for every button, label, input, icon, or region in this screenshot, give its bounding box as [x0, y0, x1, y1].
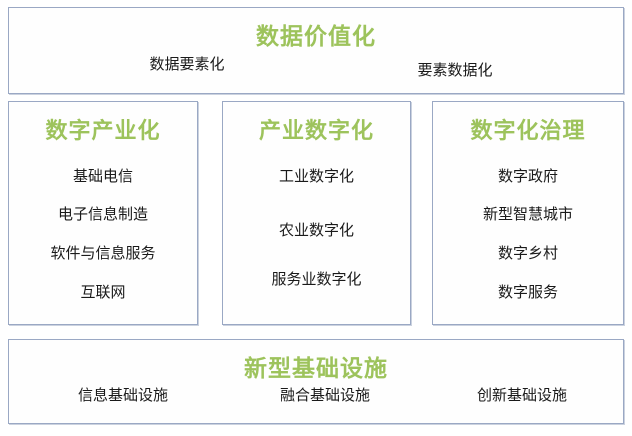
item-internet: 互联网: [9, 284, 197, 302]
item-basic-telecom: 基础电信: [9, 168, 197, 186]
item-converged-infrastructure: 融合基础设施: [280, 387, 370, 405]
panel-heading-new-infrastructure: 新型基础设施: [9, 349, 623, 383]
panel-digital-governance: 数字化治理 数字政府 新型智慧城市 数字乡村 数字服务: [432, 101, 624, 325]
item-agriculture-digitalization: 农业数字化: [223, 222, 410, 240]
panel-heading-digital-governance: 数字化治理: [433, 113, 623, 145]
panel-industrial-digitalization: 产业数字化 工业数字化 农业数字化 服务业数字化: [222, 101, 411, 325]
item-digital-government: 数字政府: [433, 168, 623, 186]
item-digital-services: 数字服务: [433, 284, 623, 302]
item-factor-datafication: 要素数据化: [417, 62, 492, 80]
item-industry-digitalization: 工业数字化: [223, 168, 410, 186]
item-innovation-infrastructure: 创新基础设施: [477, 387, 567, 405]
item-services-digitalization: 服务业数字化: [223, 271, 410, 289]
item-software-and-information-services: 软件与信息服务: [9, 245, 197, 263]
panel-digital-industrialization: 数字产业化 基础电信 电子信息制造 软件与信息服务 互联网: [8, 101, 198, 325]
panel-heading-digital-industrialization: 数字产业化: [9, 113, 197, 145]
item-new-smart-city: 新型智慧城市: [433, 206, 623, 224]
item-data-factorization: 数据要素化: [149, 56, 224, 74]
item-information-infrastructure: 信息基础设施: [78, 387, 168, 405]
panel-heading-data-valorization: 数据价值化: [9, 17, 623, 51]
item-digital-countryside: 数字乡村: [433, 245, 623, 263]
value-chain-diagram: 数据价值化 数据要素化 要素数据化 数字产业化 基础电信 电子信息制造 软件与信…: [0, 0, 632, 436]
panel-heading-industrial-digitalization: 产业数字化: [223, 113, 410, 145]
item-electronic-information-manufacturing: 电子信息制造: [9, 206, 197, 224]
panel-new-infrastructure: 新型基础设施 信息基础设施 融合基础设施 创新基础设施: [8, 339, 624, 424]
panel-data-valorization: 数据价值化 数据要素化 要素数据化: [8, 7, 624, 94]
